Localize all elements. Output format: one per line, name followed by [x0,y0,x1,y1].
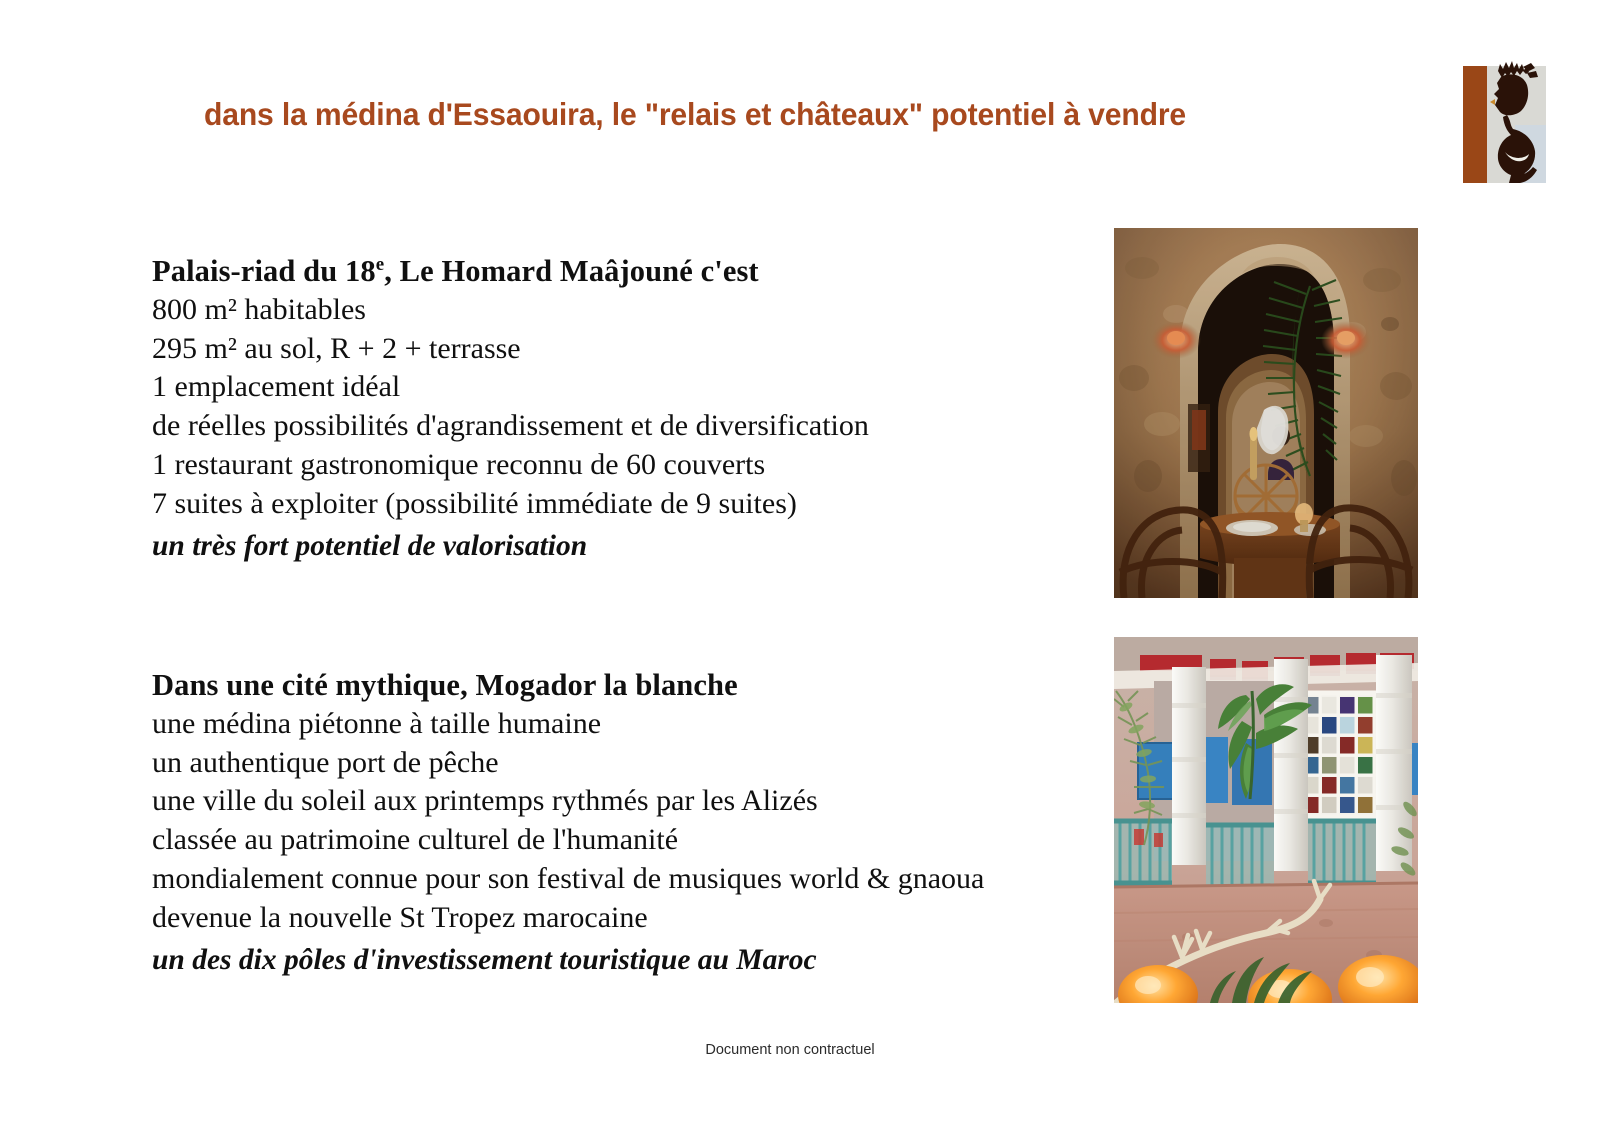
gnaoua-figure-logo [1457,51,1546,183]
block-heading-main: Dans une cité mythique, Mogador la blanc… [152,668,738,702]
property-description-block: Palais-riad du 18e, Le Homard Maâjouné c… [152,252,869,565]
detail-line: une médina piétonne à taille humaine [152,705,984,744]
block-heading-main: Palais-riad du 18 [152,254,376,288]
footer-disclaimer: Document non contractuel [0,1042,1580,1058]
detail-line: 1 restaurant gastronomique reconnu de 60… [152,446,869,485]
city-description-block: Dans une cité mythique, Mogador la blanc… [152,666,984,979]
block-emphasis: un des dix pôles d'investissement touris… [152,938,984,980]
detail-line: de réelles possibilités d'agrandissement… [152,407,869,446]
detail-line: 7 suites à exploiter (possibilité immédi… [152,485,869,524]
detail-line: devenue la nouvelle St Tropez marocaine [152,899,984,938]
detail-line: 1 emplacement idéal [152,368,869,407]
detail-line: 800 m² habitables [152,291,869,330]
detail-line: 295 m² au sol, R + 2 + terrasse [152,330,869,369]
restaurant-interior-arch-photo [1114,228,1418,598]
detail-line: mondialement connue pour son festival de… [152,860,984,899]
block-heading: Dans une cité mythique, Mogador la blanc… [152,666,984,705]
detail-line: une ville du soleil aux printemps rythmé… [152,782,984,821]
block-heading: Palais-riad du 18e, Le Homard Maâjouné c… [152,252,869,291]
block-emphasis: un très fort potentiel de valorisation [152,524,869,566]
riad-courtyard-photo [1114,637,1418,1003]
page-title: dans la médina d'Essaouira, le "relais e… [204,96,1186,133]
detail-line: classée au patrimoine culturel de l'huma… [152,821,984,860]
block-heading-superscript: e [376,254,385,275]
logo-figure-silhouette [1457,51,1546,183]
block-heading-rest: , Le Homard Maâjouné c'est [384,254,758,288]
detail-line: un authentique port de pêche [152,744,984,783]
